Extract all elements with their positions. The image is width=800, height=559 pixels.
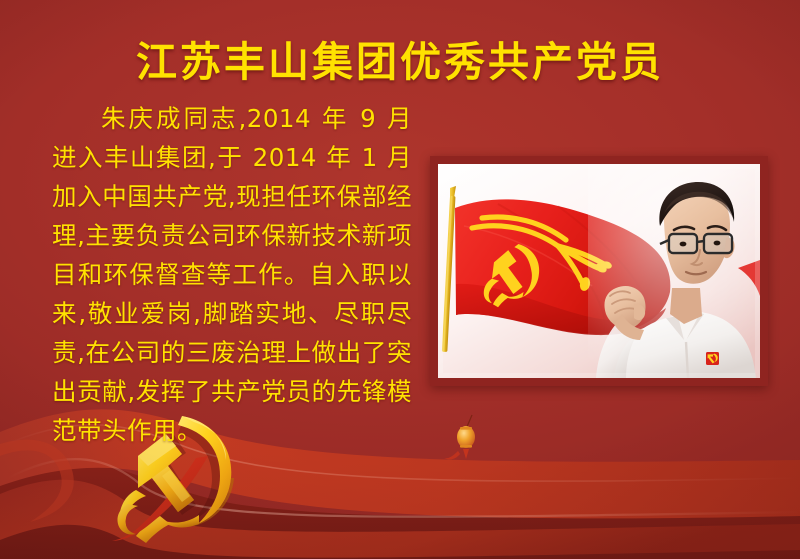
biography-text: 朱庆成同志,2014 年 9 月进入丰山集团,于 2014 年 1 月加入中国共… [52,99,412,450]
page-title: 江苏丰山集团优秀共产党员 [0,28,800,88]
member-photo-card [430,156,768,386]
party-member-poster: 江苏丰山集团优秀共产党员 朱庆成同志,2014 年 9 月进入丰山集团,于 20… [0,0,800,559]
member-photo [438,164,760,378]
party-badge-pin [706,352,719,365]
